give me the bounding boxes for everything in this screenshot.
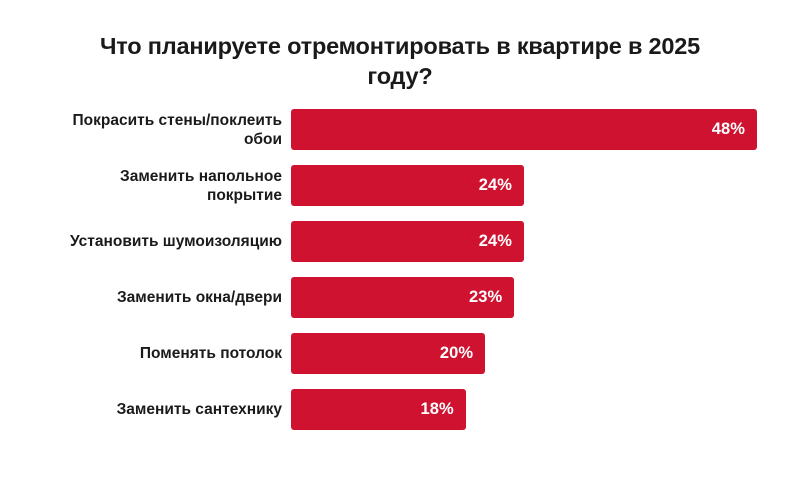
bar-fill[interactable]: 24%: [291, 221, 524, 262]
bar-value-label: 48%: [712, 109, 757, 150]
bar-track: 24%: [291, 165, 524, 206]
chart-title: Что планируете отремонтировать в квартир…: [34, 31, 766, 91]
bar-row: Заменить напольное покрытие 24%: [0, 165, 800, 206]
bar-value-label: 18%: [420, 389, 465, 430]
bar-value-label: 24%: [479, 165, 524, 206]
bar-category-label: Покрасить стены/поклеить обои: [18, 111, 282, 149]
bar-track: 20%: [291, 333, 485, 374]
bar-track: 18%: [291, 389, 466, 430]
bar-category-label: Заменить сантехнику: [18, 400, 282, 419]
bar-value-label: 23%: [469, 277, 514, 318]
bar-row: Заменить окна/двери 23%: [0, 277, 800, 318]
bar-track: 23%: [291, 277, 514, 318]
bar-chart-plot-area: Покрасить стены/поклеить обои 48% Замени…: [0, 109, 800, 444]
bar-fill[interactable]: 48%: [291, 109, 757, 150]
bar-category-label: Установить шумоизоляцию: [18, 232, 282, 251]
bar-row: Заменить сантехнику 18%: [0, 389, 800, 430]
bar-track: 24%: [291, 221, 524, 262]
bar-fill[interactable]: 18%: [291, 389, 466, 430]
chart-container: Что планируете отремонтировать в квартир…: [0, 0, 800, 496]
bar-row: Поменять потолок 20%: [0, 333, 800, 374]
bar-track: 48%: [291, 109, 757, 150]
bar-category-label: Поменять потолок: [18, 344, 282, 363]
bar-fill[interactable]: 23%: [291, 277, 514, 318]
bar-fill[interactable]: 20%: [291, 333, 485, 374]
bar-value-label: 24%: [479, 221, 524, 262]
bar-row: Покрасить стены/поклеить обои 48%: [0, 109, 800, 150]
bar-category-label: Заменить напольное покрытие: [18, 167, 282, 205]
bar-fill[interactable]: 24%: [291, 165, 524, 206]
bar-value-label: 20%: [440, 333, 485, 374]
bar-category-label: Заменить окна/двери: [18, 288, 282, 307]
bar-row: Установить шумоизоляцию 24%: [0, 221, 800, 262]
